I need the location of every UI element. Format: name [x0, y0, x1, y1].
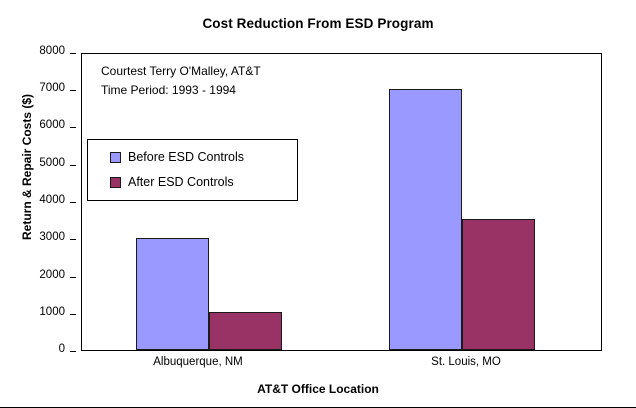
- annotation-line-courtesy: Courtest Terry O'Malley, AT&T: [101, 62, 261, 81]
- y-axis-title: Return & Repair Costs ($): [20, 47, 34, 287]
- annotation-line-time-period: Time Period: 1993 - 1994: [101, 81, 261, 100]
- legend-swatch-before-icon: [110, 152, 121, 163]
- y-tick-label: 8000: [39, 45, 65, 57]
- bar-before-albuquerque[interactable]: [136, 238, 209, 350]
- y-tick: 0: [0, 351, 76, 352]
- y-tick: 7000: [0, 90, 76, 91]
- annotation-block: Courtest Terry O'Malley, AT&T Time Perio…: [101, 62, 261, 100]
- y-tick: 3000: [0, 239, 76, 240]
- bar-before-stlouis[interactable]: [389, 89, 462, 350]
- y-tick-label: 1000: [39, 306, 65, 318]
- y-tick-label: 7000: [39, 82, 65, 94]
- y-tick-mark: [70, 53, 76, 54]
- y-tick-mark: [70, 90, 76, 91]
- chart-screenshot: Cost Reduction From ESD Program Return &…: [0, 0, 636, 408]
- legend: Before ESD Controls After ESD Controls: [87, 139, 298, 201]
- y-tick-label: 2000: [39, 269, 65, 281]
- y-tick-mark: [70, 165, 76, 166]
- y-tick-label: 5000: [39, 157, 65, 169]
- y-tick-mark: [70, 127, 76, 128]
- y-tick-label: 0: [59, 343, 65, 355]
- legend-item-before[interactable]: Before ESD Controls: [110, 150, 244, 164]
- y-tick: 8000: [0, 53, 76, 54]
- x-tick-label-stlouis: St. Louis, MO: [376, 356, 556, 368]
- x-axis-title: AT&T Office Location: [0, 382, 636, 396]
- y-tick-mark: [70, 277, 76, 278]
- y-tick: 6000: [0, 127, 76, 128]
- y-tick: 4000: [0, 202, 76, 203]
- y-tick-mark: [70, 314, 76, 315]
- bar-after-stlouis[interactable]: [462, 219, 535, 350]
- legend-item-after[interactable]: After ESD Controls: [110, 175, 234, 189]
- legend-label-after: After ESD Controls: [128, 175, 234, 189]
- bar-after-albuquerque[interactable]: [209, 312, 282, 350]
- y-tick-mark: [70, 202, 76, 203]
- y-tick: 2000: [0, 277, 76, 278]
- y-tick-mark: [70, 351, 76, 352]
- x-tick-label-albuquerque: Albuquerque, NM: [108, 356, 288, 368]
- y-tick-label: 6000: [39, 119, 65, 131]
- legend-label-before: Before ESD Controls: [128, 150, 244, 164]
- page-title: Cost Reduction From ESD Program: [0, 16, 636, 31]
- y-tick: 1000: [0, 314, 76, 315]
- y-tick: 5000: [0, 165, 76, 166]
- legend-swatch-after-icon: [110, 177, 121, 188]
- y-tick-label: 4000: [39, 194, 65, 206]
- y-tick-label: 3000: [39, 231, 65, 243]
- y-tick-mark: [70, 239, 76, 240]
